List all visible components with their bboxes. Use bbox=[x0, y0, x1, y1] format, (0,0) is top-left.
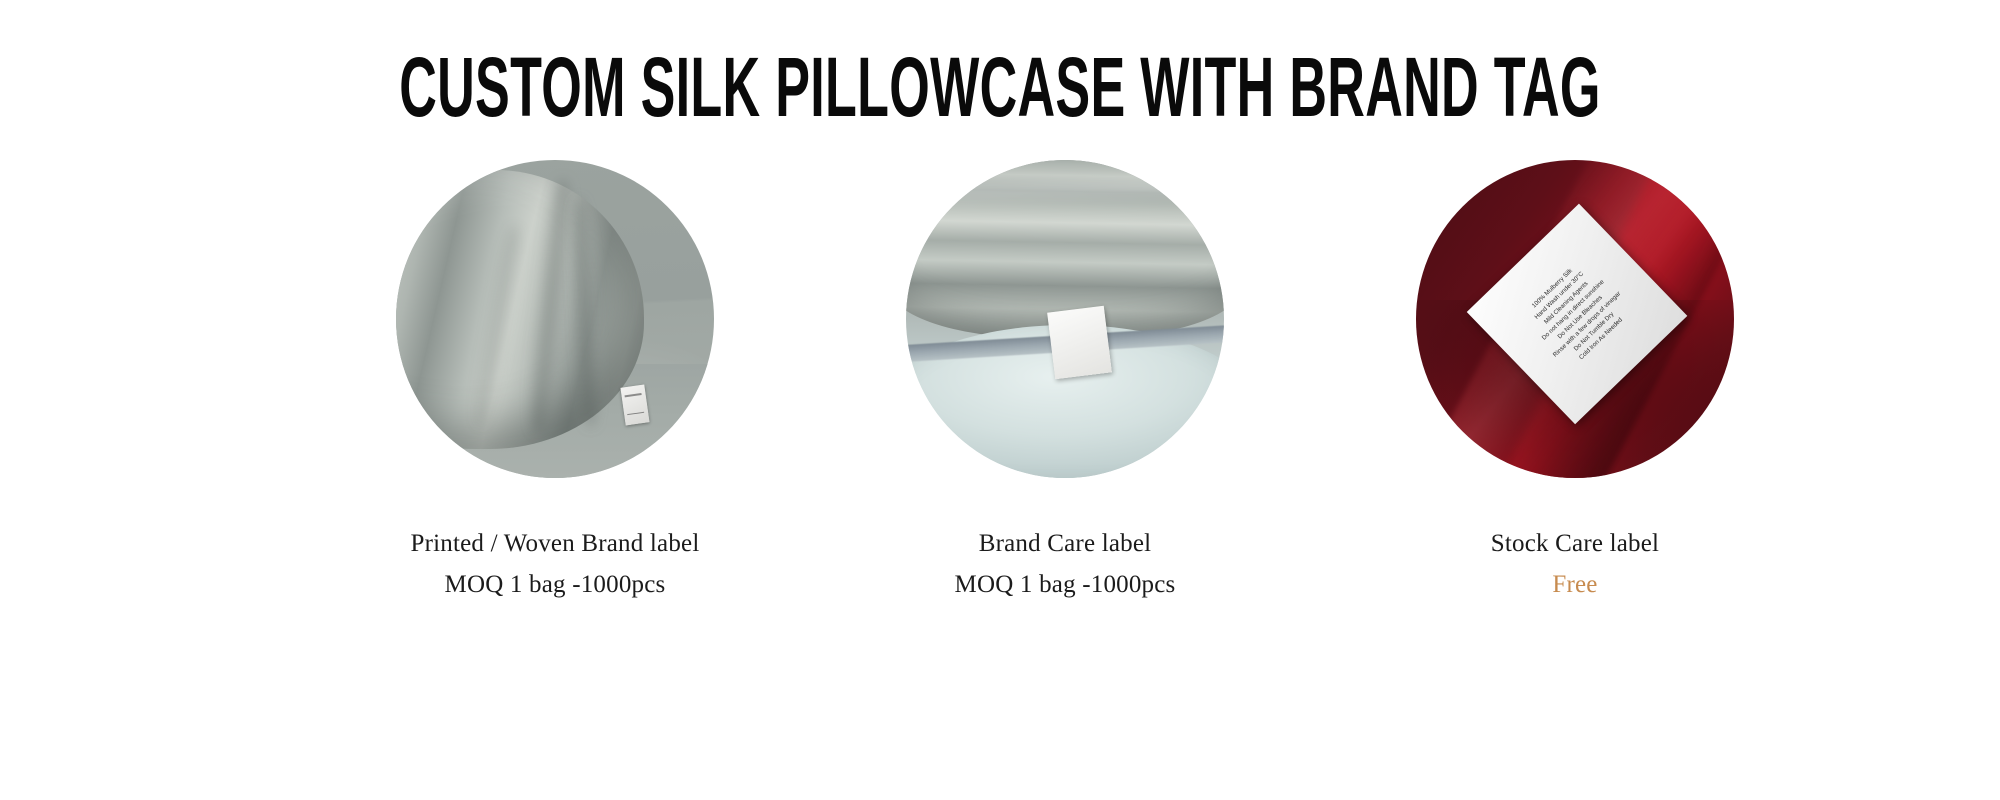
promo-banner: CUSTOM SILK PILLOWCASE WITH BRAND TAG Pr… bbox=[0, 0, 2000, 800]
caption-primary: Printed / Woven Brand label bbox=[411, 524, 700, 565]
product-columns: Printed / Woven Brand label MOQ 1 bag -1… bbox=[0, 160, 2000, 605]
care-label-hang-tag bbox=[1047, 306, 1112, 379]
page-title: CUSTOM SILK PILLOWCASE WITH BRAND TAG bbox=[399, 48, 1601, 128]
product-photo-stock-care-label[interactable]: 100% Mulberry Silk Hand Wash under 30°C … bbox=[1416, 160, 1734, 478]
product-photo-printed-woven-brand-label[interactable] bbox=[396, 160, 714, 478]
caption-block-2: Brand Care label MOQ 1 bag -1000pcs bbox=[955, 524, 1176, 605]
caption-primary: Stock Care label bbox=[1491, 524, 1659, 565]
product-column-1: Printed / Woven Brand label MOQ 1 bag -1… bbox=[355, 160, 755, 605]
caption-block-3: Stock Care label Free bbox=[1491, 524, 1659, 605]
product-column-3: 100% Mulberry Silk Hand Wash under 30°C … bbox=[1375, 160, 1775, 605]
caption-secondary: MOQ 1 bag -1000pcs bbox=[955, 565, 1176, 606]
caption-secondary: MOQ 1 bag -1000pcs bbox=[411, 565, 700, 606]
caption-block-1: Printed / Woven Brand label MOQ 1 bag -1… bbox=[411, 524, 700, 605]
product-column-2: Brand Care label MOQ 1 bag -1000pcs bbox=[865, 160, 1265, 605]
caption-secondary: Free bbox=[1491, 565, 1659, 606]
page-title-container: CUSTOM SILK PILLOWCASE WITH BRAND TAG bbox=[0, 48, 2000, 128]
silk-sheen bbox=[906, 174, 1224, 205]
caption-primary: Brand Care label bbox=[955, 524, 1176, 565]
product-photo-brand-care-label[interactable] bbox=[906, 160, 1224, 478]
